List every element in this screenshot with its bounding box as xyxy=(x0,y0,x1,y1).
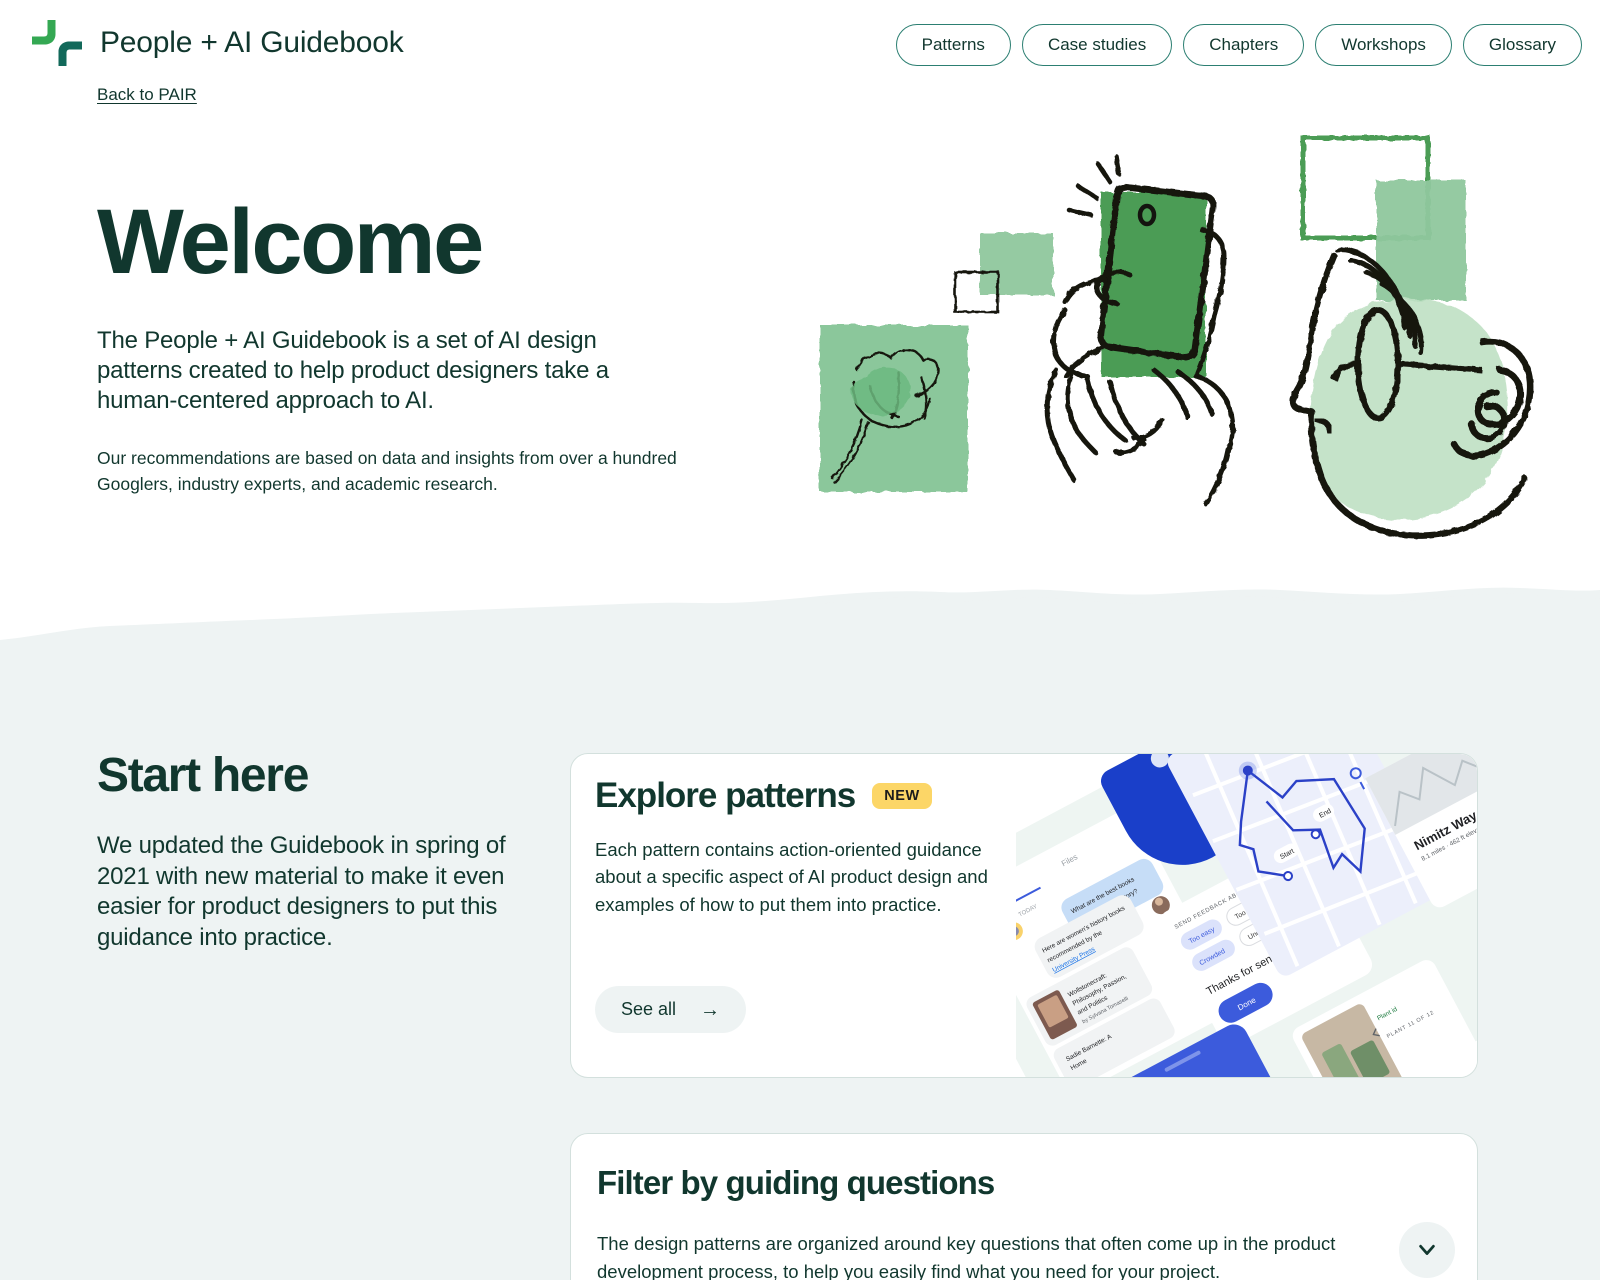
start-here-body: We updated the Guidebook in spring of 20… xyxy=(97,831,517,954)
explore-patterns-description: Each pattern contains action-oriented gu… xyxy=(595,836,995,918)
brand-title: People + AI Guidebook xyxy=(100,26,404,60)
arrow-right-icon: → xyxy=(700,1000,720,1020)
nav-item-chapters[interactable]: Chapters xyxy=(1183,24,1304,66)
page-title: Welcome xyxy=(97,196,757,288)
explore-patterns-title: Explore patterns xyxy=(595,776,855,816)
brand[interactable]: People + AI Guidebook xyxy=(30,16,404,70)
site-header: People + AI Guidebook Back to PAIR Patte… xyxy=(0,0,1600,130)
back-to-pair-link[interactable]: Back to PAIR xyxy=(97,85,197,105)
hero-section: People + AI Guidebook Back to PAIR Patte… xyxy=(0,0,1600,660)
explore-patterns-card[interactable]: Explore patterns NEW Each pattern contai… xyxy=(570,753,1478,1078)
filter-by-guiding-questions-card[interactable]: Filter by guiding questions The design p… xyxy=(570,1133,1478,1280)
main-nav: Patterns Case studies Chapters Workshops… xyxy=(896,24,1582,66)
nav-item-case-studies[interactable]: Case studies xyxy=(1022,24,1172,66)
hero-illustration xyxy=(810,120,1540,600)
hero-sub-paragraph: Our recommendations are based on data an… xyxy=(97,445,737,498)
hero-lead-paragraph: The People + AI Guidebook is a set of AI… xyxy=(97,326,657,417)
guidebook-home-page: People + AI Guidebook Back to PAIR Patte… xyxy=(0,0,1600,1280)
filter-questions-description: The design patterns are organized around… xyxy=(597,1230,1367,1280)
filter-questions-title: Filter by guiding questions xyxy=(597,1164,994,1202)
pattern-examples-collage: Chat Files TODAY What are the best books… xyxy=(1016,754,1478,1078)
expand-filter-button[interactable] xyxy=(1399,1222,1455,1278)
nav-item-glossary[interactable]: Glossary xyxy=(1463,24,1582,66)
status-badge-new: NEW xyxy=(872,783,932,809)
see-all-button[interactable]: See all → xyxy=(595,986,746,1033)
nav-item-patterns[interactable]: Patterns xyxy=(896,24,1011,66)
start-here-column: Start here We updated the Guidebook in s… xyxy=(97,748,517,954)
explore-patterns-text: Explore patterns NEW Each pattern contai… xyxy=(595,776,1015,918)
start-here-title: Start here xyxy=(97,748,517,803)
chevron-down-icon xyxy=(1416,1238,1438,1263)
hero-copy: Welcome The People + AI Guidebook is a s… xyxy=(97,196,757,498)
start-here-section: Start here We updated the Guidebook in s… xyxy=(0,648,1600,1280)
see-all-label: See all xyxy=(621,999,676,1020)
nav-item-workshops[interactable]: Workshops xyxy=(1315,24,1452,66)
pair-logo-icon xyxy=(30,16,84,70)
explore-patterns-heading-row: Explore patterns NEW xyxy=(595,776,1015,816)
